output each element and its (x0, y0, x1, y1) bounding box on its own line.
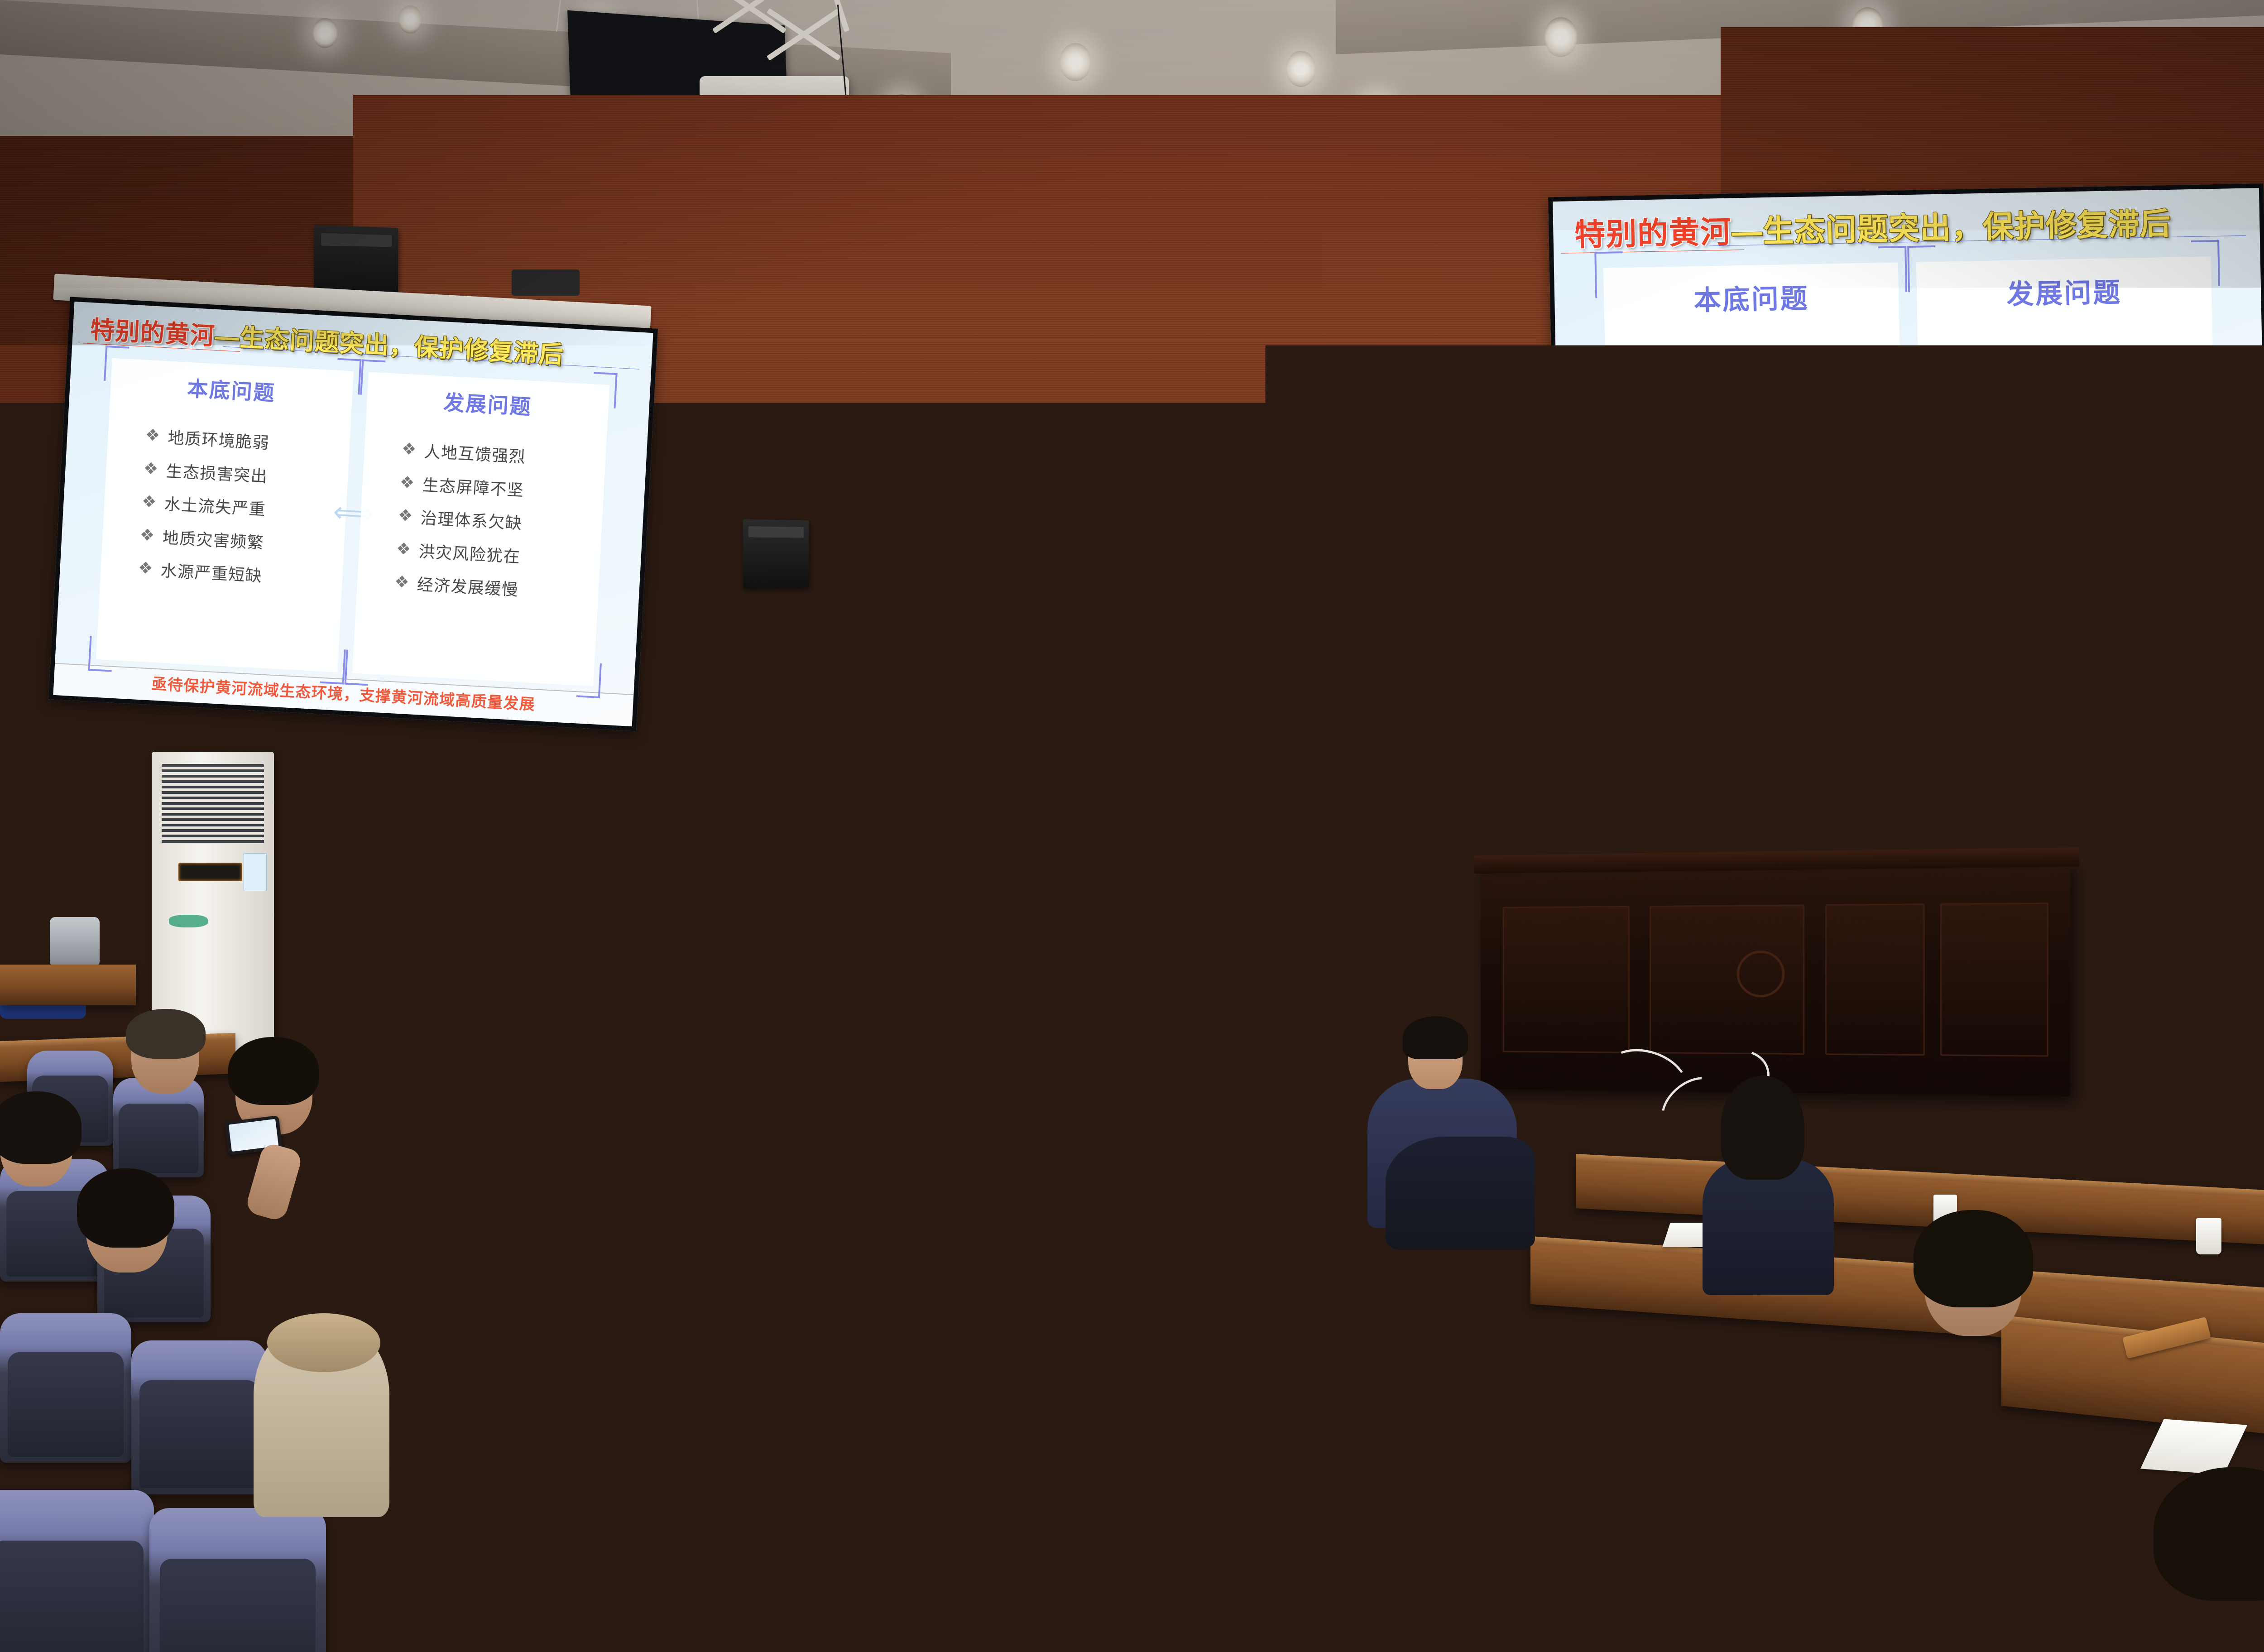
auditorium-seat[interactable] (1281, 1263, 1408, 1404)
list-item-label: 洪灾风险犹在 (1996, 469, 2132, 504)
audience-hair (766, 1349, 905, 1462)
bullet-icon: ❖ (399, 472, 416, 492)
panel-development-issues: 发展问题 ❖人地互馈强烈 ❖生态屏障不坚 ❖治理体系欠缺 ❖洪灾风险犹在 ❖经济… (352, 372, 610, 686)
panel-list: ❖人地互馈强烈 ❖生态屏障不坚 ❖治理体系欠缺 ❖洪灾风险犹在 ❖经济发展缓慢 (361, 426, 602, 614)
corner-bracket (1907, 245, 1937, 292)
nameplate: 彭建兵 (1083, 1110, 1146, 1141)
corner-bracket (104, 346, 129, 382)
audience-hair (228, 1037, 319, 1105)
list-item-label: 水土流失严重 (1682, 432, 1818, 466)
list-item-label: 治理体系欠缺 (1995, 425, 2131, 460)
downlight (1286, 51, 1316, 87)
audience-hair (1914, 1210, 2033, 1307)
corner-bracket (88, 636, 113, 672)
list-item: ❖经济发展缓慢 (1927, 511, 2210, 548)
wall-plaque: 安全出口指示牌 (32, 815, 101, 837)
list-item: ❖水源严重短缺 (105, 555, 338, 591)
audience-hair (841, 1189, 950, 1262)
bullet-icon: ❖ (1964, 387, 1985, 413)
audience-hair (1064, 1409, 1214, 1534)
downlight (398, 5, 422, 34)
list-item-label: 人地互馈强烈 (1994, 338, 2130, 373)
auditorium-seat[interactable] (928, 1390, 1073, 1553)
attendee-green-coat (743, 1540, 933, 1652)
bullet-icon: ❖ (398, 506, 414, 526)
speaker-glasses (1298, 910, 1336, 921)
downlight (1544, 17, 1578, 57)
list-item-label: 地质灾害频繁 (162, 524, 264, 553)
downlight (1060, 43, 1091, 81)
panel-heading: 本底问题 (1693, 276, 1809, 318)
microphone-indicator (1193, 900, 1203, 907)
bullet-icon: ❖ (396, 539, 412, 559)
list-item: ❖人地互馈强烈 (1924, 337, 2207, 374)
list-item-label: 洪灾风险犹在 (418, 538, 521, 567)
corner-bracket (344, 650, 369, 686)
audience-hair (1521, 1428, 1669, 1551)
speaker-lanyard (1314, 943, 1338, 1011)
list-item: ❖水源严重短缺 (1614, 517, 1897, 554)
bullet-icon: ❖ (1654, 524, 1675, 550)
auditorium-seat[interactable] (1734, 1540, 1929, 1652)
list-item: ❖水土流失严重 (1613, 430, 1896, 467)
list-item: ❖治理体系欠缺 (1925, 424, 2208, 461)
list-item-label: 人地互馈强烈 (424, 438, 527, 467)
door-window-pane (844, 782, 898, 895)
lectern: 法学院 · 知识产权学院 (704, 908, 912, 1121)
panel-heading: 发展问题 (2006, 270, 2122, 312)
bullet-icon: ❖ (138, 558, 154, 578)
panel-heading: 本底问题 (187, 372, 276, 407)
lectern-top (696, 898, 921, 913)
slide-title-red: 特别的黄河 (1574, 215, 1732, 252)
slide-right: 特别的黄河—生态问题突出，保护修复滞后 本底问题 ❖地质环境脆弱 ❖生态损害突出… (1553, 188, 2264, 722)
auditorium-seat[interactable] (521, 1522, 702, 1652)
list-item: ❖生态屏障不坚 (1925, 380, 2208, 418)
list-item-label: 治理体系欠缺 (420, 505, 523, 534)
list-item-label: 经济发展缓慢 (1997, 513, 2133, 547)
water-kettle (0, 910, 54, 965)
auditorium-seat[interactable] (149, 1508, 326, 1652)
wall-socket[interactable] (1227, 815, 1248, 837)
slide-title-yellow: —生态问题突出，保护修复滞后 (1731, 206, 2171, 250)
list-item: ❖地质灾害频繁 (1613, 474, 1896, 511)
wall-socket[interactable] (480, 833, 503, 856)
attendee-hair (1403, 1016, 1468, 1059)
panel-list: ❖人地互馈强烈 ❖生态屏障不坚 ❖治理体系欠缺 ❖洪灾风险犹在 ❖经济发展缓慢 (1923, 325, 2211, 560)
bullet-icon: ❖ (1965, 431, 1986, 456)
list-item-label: 水土流失严重 (163, 491, 266, 520)
corner-bracket (2198, 630, 2228, 677)
side-table (0, 965, 136, 1005)
panel-list: ❖地质环境脆弱 ❖生态损害突出 ❖水土流失严重 ❖地质灾害频繁 ❖水源严重短缺 (1611, 331, 1898, 566)
list-item-label: 生态损害突出 (1682, 388, 1818, 423)
attendee-hair (1721, 1076, 1804, 1180)
list-item-label: 生态屏障不坚 (1994, 382, 2130, 416)
judges-bench (1481, 860, 2070, 1097)
list-item-label: 地质灾害频繁 (1683, 475, 1819, 509)
panel-baseline-issues: 本底问题 ❖地质环境脆弱 ❖生态损害突出 ❖水土流失严重 ❖地质灾害频繁 ❖水源… (96, 358, 353, 672)
slide-title-red: 特别的黄河 (90, 316, 216, 350)
bench-panel (1940, 903, 2048, 1057)
ac-display (178, 863, 242, 881)
audience-hair (687, 1176, 794, 1262)
laptop[interactable] (1175, 910, 1293, 1001)
slide-left: 特别的黄河—生态问题突出，保护修复滞后 本底问题 ❖地质环境脆弱 ❖生态损害突出… (53, 302, 653, 726)
auditorium-seat[interactable] (0, 1490, 154, 1652)
panel-list: ❖地质环境脆弱 ❖生态损害突出 ❖水土流失严重 ❖地质灾害频繁 ❖水源严重短缺 (105, 412, 345, 600)
paper-cup (2196, 1218, 2221, 1254)
corner-bracket (592, 372, 618, 408)
projection-screen-left: 特别的黄河—生态问题突出，保护修复滞后 本底问题 ❖地质环境脆弱 ❖生态损害突出… (48, 297, 658, 731)
ac-vent-grill (162, 764, 264, 844)
audience-hair (126, 1009, 206, 1059)
lectern-label: 法学院 · 知识产权学院 (704, 914, 912, 941)
audience-hair (487, 1321, 619, 1430)
list-item: ❖生态损害突出 (1612, 386, 1895, 423)
list-item: ❖生态损害突出 (110, 455, 343, 491)
corner-bracket (360, 360, 385, 396)
list-item-label: 水源严重短缺 (160, 557, 263, 586)
bench-panel (1503, 906, 1630, 1053)
slide-body-left: 本底问题 ❖地质环境脆弱 ❖生态损害突出 ❖水土流失严重 ❖地质灾害频繁 ❖水源… (55, 344, 651, 694)
bullet-icon: ❖ (1650, 350, 1671, 375)
corner-bracket (320, 648, 345, 685)
auditorium-seat[interactable] (0, 1313, 131, 1463)
attendee-hair-clip (1075, 1426, 1121, 1458)
list-item: ❖洪灾风险犹在 (363, 535, 596, 571)
wall-plaque-text: 安全出口指示牌 (50, 822, 83, 831)
bench-panel (1825, 903, 1925, 1056)
lecture-hall-photo: 安全出口指示牌 特别的黄河—生态问题突出，保护修复滞后 本底问题 ❖地质 (0, 0, 2264, 1652)
panel-development-issues: 发展问题 ❖人地互馈强烈 ❖生态屏障不坚 ❖治理体系欠缺 ❖洪灾风险犹在 ❖经济… (1916, 256, 2219, 666)
panel-heading: 发展问题 (443, 386, 532, 420)
projection-screen-right: 特别的黄河—生态问题突出，保护修复滞后 本底问题 ❖地质环境脆弱 ❖生态损害突出… (1548, 183, 2264, 727)
list-item-label: 经济发展缓慢 (417, 571, 519, 600)
bullet-icon: ❖ (1967, 518, 1988, 544)
corner-bracket (1886, 636, 1915, 683)
corner-bracket (1878, 246, 1908, 293)
door-window-pane (782, 782, 836, 895)
bullet-icon: ❖ (139, 525, 156, 545)
list-item: ❖人地互馈强烈 (369, 436, 601, 472)
bench-emblem (1736, 951, 1784, 997)
attendee-fur-collar (267, 1313, 380, 1372)
bullet-icon: ❖ (145, 425, 161, 445)
list-item: ❖地质灾害频繁 (107, 521, 340, 557)
list-item-label: 地质环境脆弱 (167, 425, 270, 454)
list-item-label: 生态损害突出 (165, 458, 268, 487)
bullet-icon: ❖ (1966, 475, 1987, 500)
list-item: ❖生态屏障不坚 (367, 469, 600, 505)
bullet-icon: ❖ (143, 459, 159, 479)
audience-hair (0, 1091, 82, 1164)
bullet-icon: ❖ (1651, 394, 1672, 419)
audience-hair (77, 1168, 174, 1248)
list-item-label: 生态屏障不坚 (422, 472, 525, 501)
list-item: ❖地质环境脆弱 (1611, 343, 1894, 380)
stage-step (1485, 1119, 2264, 1132)
downlight (312, 18, 338, 48)
nameplate-text: 彭建兵 (1094, 1119, 1135, 1141)
list-item: ❖水土流失严重 (109, 488, 341, 524)
list-item-label: 水源严重短缺 (1684, 519, 1820, 553)
bullet-icon: ❖ (141, 492, 158, 512)
thermos-flask (1341, 946, 1369, 1010)
attendee-coat (1386, 1137, 1535, 1250)
audience-hair (1112, 1291, 1239, 1395)
list-item-label: 地质环境脆弱 (1681, 344, 1817, 379)
bullet-icon: ❖ (1963, 344, 1984, 370)
panel-baseline-issues: 本底问题 ❖地质环境脆弱 ❖生态损害突出 ❖水土流失严重 ❖地质灾害频繁 ❖水源… (1603, 262, 1906, 672)
audience-hair (390, 1092, 485, 1160)
bullet-icon: ❖ (401, 439, 417, 459)
ac-brand-logo (169, 915, 208, 927)
paper-document (772, 1103, 826, 1124)
list-item: ❖洪灾风险犹在 (1926, 467, 2209, 504)
attendee-cap (489, 1177, 602, 1236)
slide-body-right: 本底问题 ❖地质环境脆弱 ❖生态损害突出 ❖水土流失严重 ❖地质灾害频繁 ❖水源… (1554, 241, 2264, 680)
bullet-icon: ❖ (1652, 437, 1673, 463)
corner-bracket (1914, 636, 1944, 682)
list-item: ❖经济发展缓慢 (361, 568, 594, 605)
corner-bracket (576, 663, 602, 699)
corner-bracket (1602, 642, 1631, 688)
wall-speaker-center (743, 519, 809, 588)
ac-energy-label (244, 853, 267, 891)
audience-hair (1355, 1397, 1499, 1518)
list-item: ❖治理体系欠缺 (365, 502, 598, 538)
list-item: ❖地质环境脆弱 (112, 422, 345, 458)
wall-socket[interactable] (602, 856, 622, 877)
bullet-icon: ❖ (394, 572, 410, 592)
corner-bracket (2191, 240, 2221, 287)
auditorium-seat[interactable] (1313, 1540, 1503, 1652)
bullet-icon: ❖ (1653, 480, 1674, 506)
speaker-hair (1291, 884, 1342, 914)
corner-bracket (1594, 251, 1624, 298)
wall-sensor (512, 269, 580, 296)
water-kettle (50, 917, 100, 967)
auditorium-seat[interactable] (634, 1377, 777, 1537)
corner-bracket (336, 358, 361, 394)
attendee-torso (1703, 1159, 1834, 1295)
auditorium-seat[interactable] (131, 1340, 267, 1494)
